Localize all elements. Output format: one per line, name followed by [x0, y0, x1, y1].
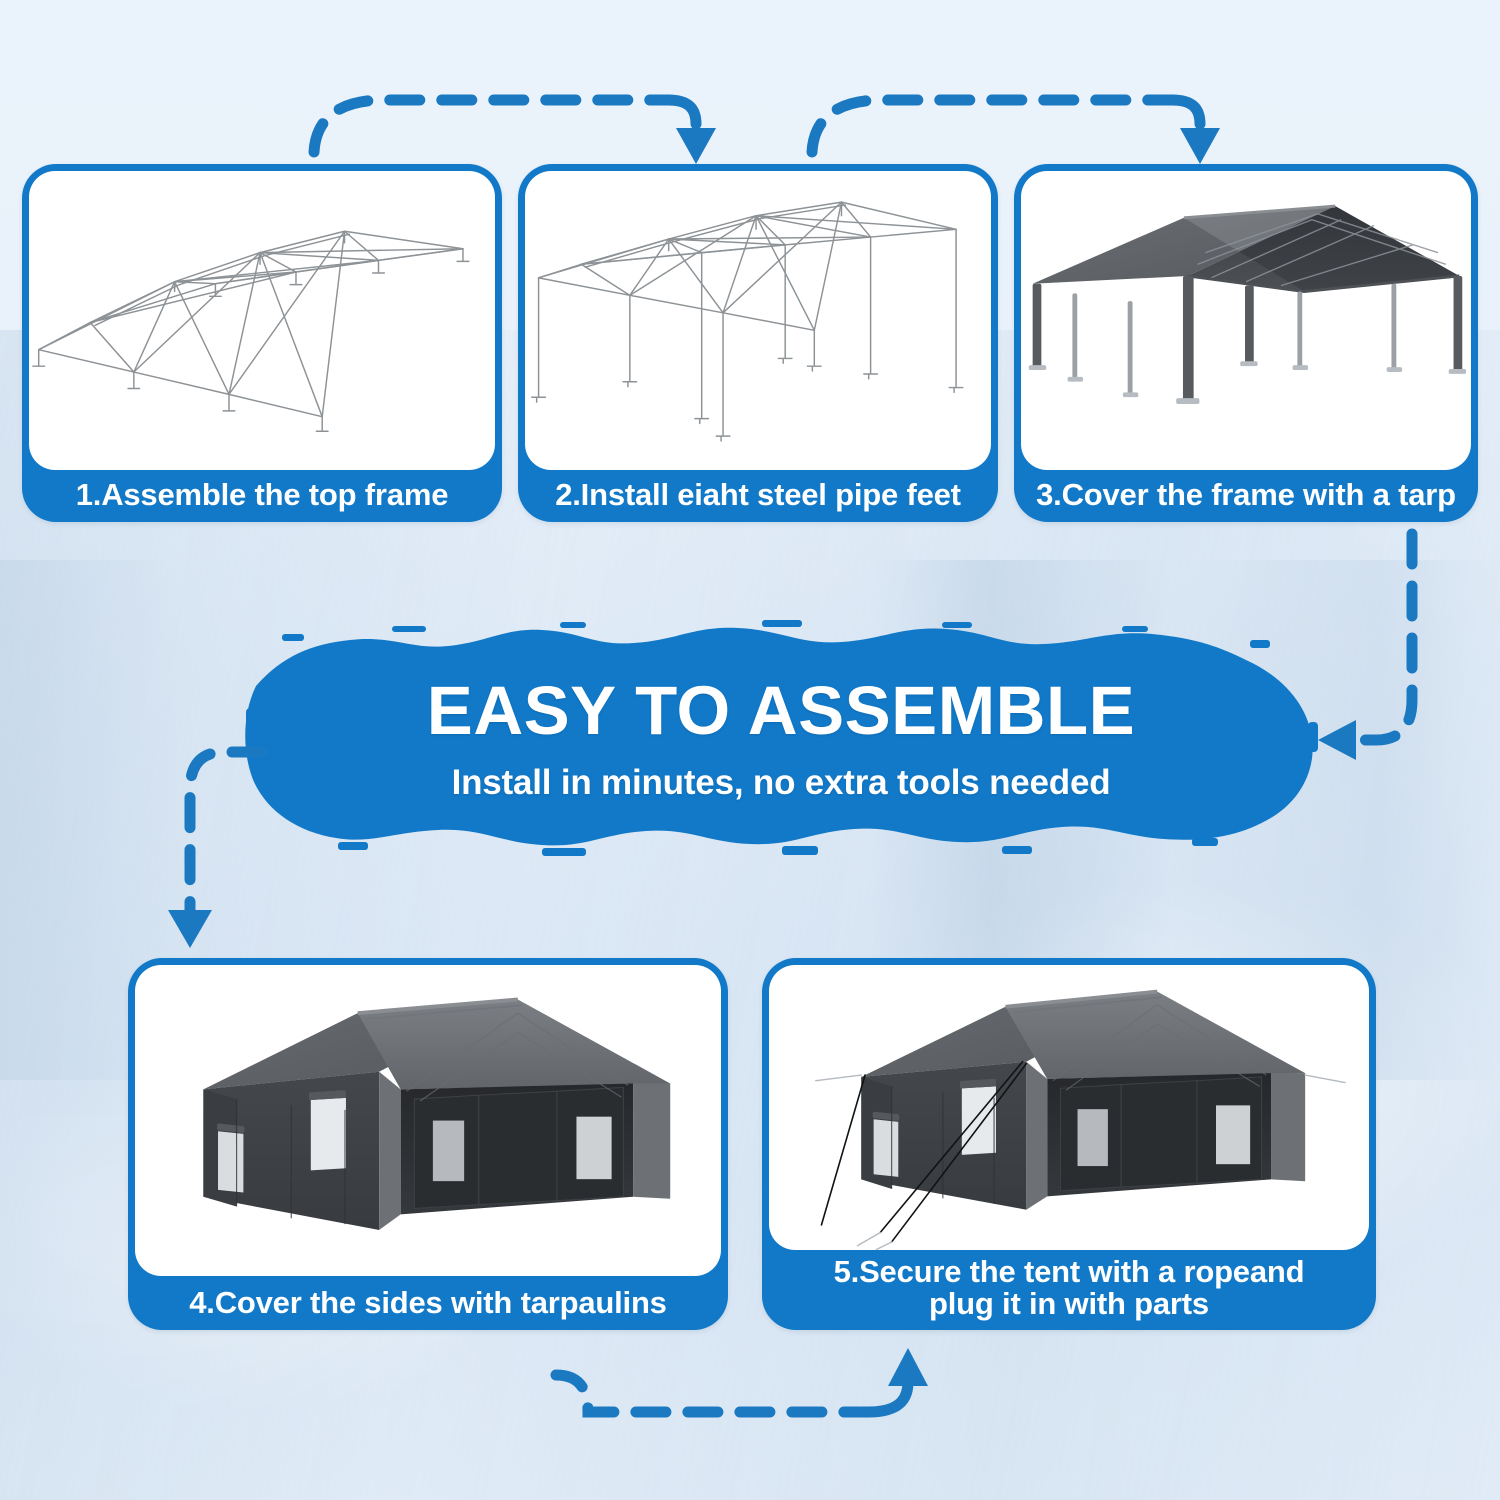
infographic-canvas: 1.Assemble the top frame	[0, 0, 1500, 1500]
step-2-illustration-panel	[525, 171, 991, 470]
carport-with-side-walls-icon	[135, 965, 721, 1276]
step-card-1: 1.Assemble the top frame	[22, 164, 502, 522]
banner-text-block: EASY TO ASSEMBLE Install in minutes, no …	[242, 616, 1320, 862]
step-3-illustration-panel	[1021, 171, 1471, 470]
easy-to-assemble-banner: EASY TO ASSEMBLE Install in minutes, no …	[242, 616, 1320, 862]
step-5-illustration-panel	[769, 965, 1369, 1250]
step-4-illustration-panel	[135, 965, 721, 1276]
step-card-2: 2.Install eiaht steel pipe feet	[518, 164, 998, 522]
step-1-label: 1.Assemble the top frame	[22, 470, 502, 522]
step-1-illustration-panel	[29, 171, 495, 470]
step-5-label: 5.Secure the tent with a ropeand plug it…	[762, 1250, 1376, 1330]
banner-title: EASY TO ASSEMBLE	[427, 676, 1135, 745]
carport-with-roof-tarp-icon	[1021, 171, 1471, 470]
step-card-3: 3.Cover the frame with a tarp	[1014, 164, 1478, 522]
step-2-label: 2.Install eiaht steel pipe feet	[518, 470, 998, 522]
carport-with-guy-ropes-icon	[769, 965, 1369, 1250]
tent-frame-with-legs-wireframe-icon	[525, 171, 991, 470]
step-card-4: 4.Cover the sides with tarpaulins	[128, 958, 728, 1330]
step-4-label: 4.Cover the sides with tarpaulins	[128, 1276, 728, 1330]
banner-subtitle: Install in minutes, no extra tools neede…	[452, 763, 1111, 803]
tent-top-frame-wireframe-icon	[29, 171, 495, 470]
step-3-label: 3.Cover the frame with a tarp	[1014, 470, 1478, 522]
step-card-5: 5.Secure the tent with a ropeand plug it…	[762, 958, 1376, 1330]
